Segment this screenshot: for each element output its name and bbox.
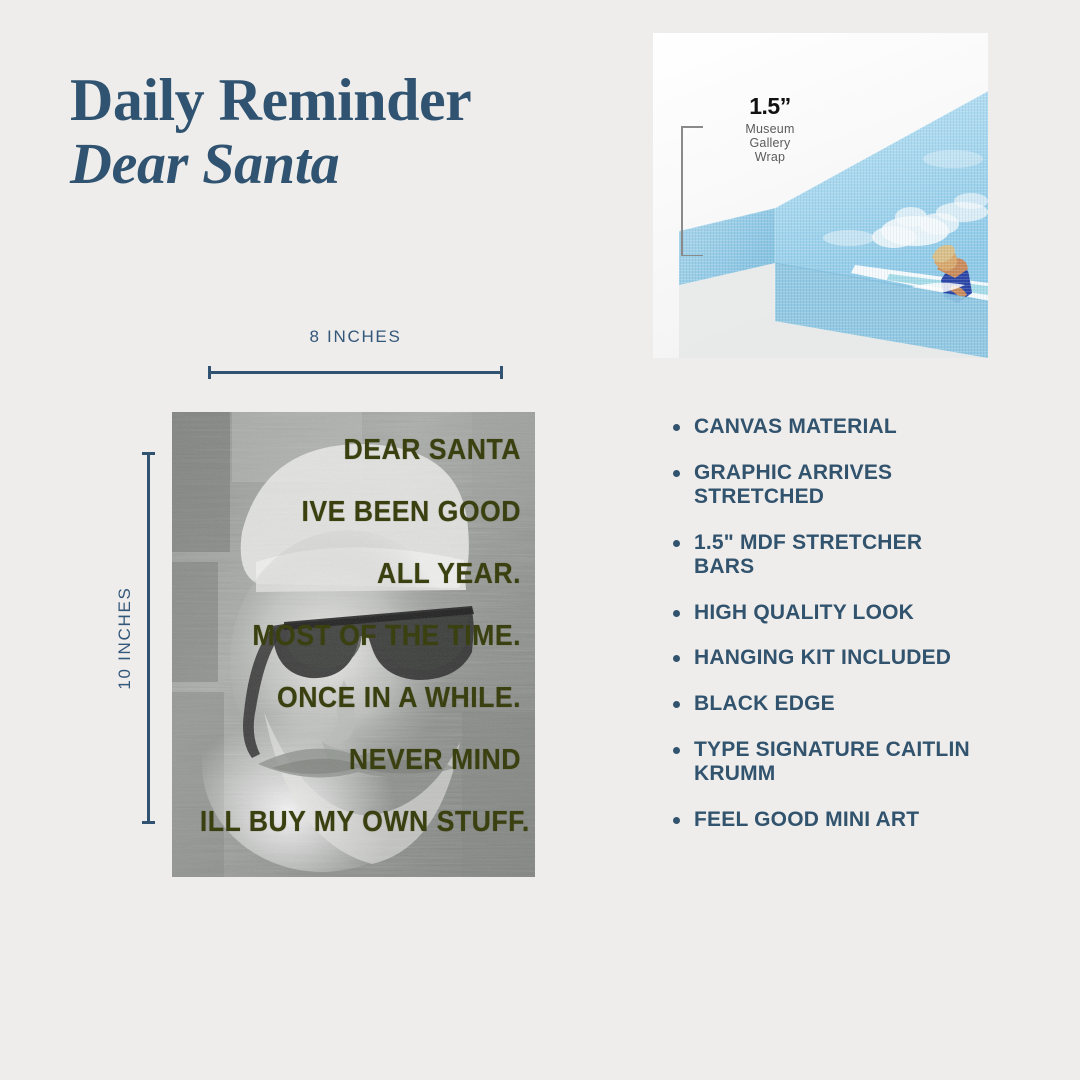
bullet-icon [673,470,680,477]
height-dimension: 10 INCHES [95,452,155,824]
width-dimension-label: 8 INCHES [208,327,503,347]
bullet-icon [673,747,680,754]
list-item: GRAPHIC ARRIVES STRETCHED [668,461,978,510]
artwork-quote-line: NEVER MIND [200,746,521,775]
list-item: CANVAS MATERIAL [668,415,978,440]
artwork-quote-line: IVE BEEN GOOD [200,498,521,527]
artwork-quote-line: MOST OF THE TIME. [200,622,521,651]
feature-label: TYPE SIGNATURE CAITLIN KRUMM [694,738,970,786]
width-dimension: 8 INCHES [208,327,503,378]
list-item: 1.5" MDF STRETCHER BARS [668,531,978,580]
list-item: FEEL GOOD MINI ART [668,808,978,833]
feature-label: GRAPHIC ARRIVES STRETCHED [694,461,892,509]
feature-label: 1.5" MDF STRETCHER BARS [694,531,922,579]
bullet-icon [673,540,680,547]
artwork-quote-line: ALL YEAR. [200,560,521,589]
list-item: HANGING KIT INCLUDED [668,646,978,671]
bullet-icon [673,610,680,617]
feature-label: HIGH QUALITY LOOK [694,601,914,624]
width-dimension-line-icon [208,366,503,378]
list-item: BLACK EDGE [668,692,978,717]
bullet-icon [673,701,680,708]
feature-label: CANVAS MATERIAL [694,415,897,438]
bullet-icon [673,655,680,662]
bullet-icon [673,817,680,824]
list-item: HIGH QUALITY LOOK [668,601,978,626]
page-title: Daily Reminder Dear Santa [70,70,630,196]
artwork-quote: DEAR SANTA IVE BEEN GOOD ALL YEAR. MOST … [172,436,521,837]
artwork-quote-line: ILL BUY MY OWN STUFF. [200,808,521,837]
height-dimension-line-icon [142,452,155,824]
features-list: CANVAS MATERIAL GRAPHIC ARRIVES STRETCHE… [668,415,978,832]
title-line-primary: Daily Reminder [70,70,630,131]
gallery-wrap-inset[interactable]: 1.5” Museum Gallery Wrap [653,33,988,358]
height-dimension-label: 10 INCHES [115,538,135,738]
feature-label: BLACK EDGE [694,692,835,715]
title-line-secondary: Dear Santa [70,133,630,196]
bullet-icon [673,424,680,431]
list-item: TYPE SIGNATURE CAITLIN KRUMM [668,738,978,787]
feature-label: FEEL GOOD MINI ART [694,808,919,831]
artwork-quote-line: ONCE IN A WHILE. [200,684,521,713]
artwork-quote-line: DEAR SANTA [200,436,521,465]
depth-bracket-icon [681,126,709,256]
feature-label: HANGING KIT INCLUDED [694,646,951,669]
canvas-artwork-preview[interactable]: DEAR SANTA IVE BEEN GOOD ALL YEAR. MOST … [172,412,535,877]
